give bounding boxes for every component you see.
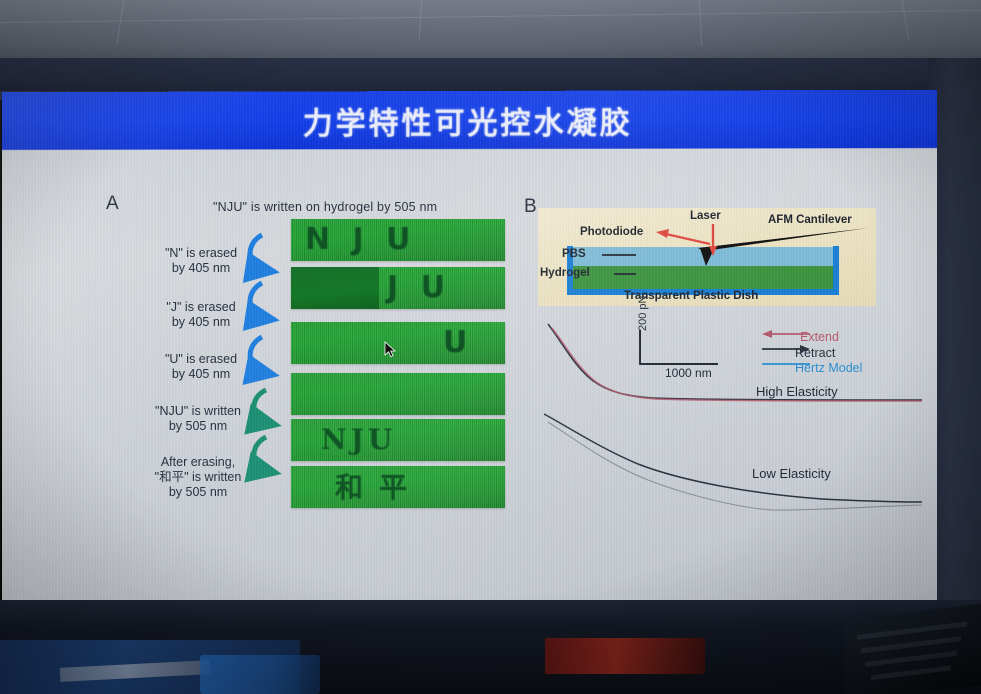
scale-bar-x-label: 1000 nm [665, 366, 712, 380]
hydrogel-layer [573, 266, 833, 289]
mouse-cursor [384, 341, 398, 359]
arrow-405-1 [250, 235, 270, 271]
desk-object-blue-marker [200, 655, 320, 694]
hydrogel-strip-text: U [443, 325, 473, 360]
photo-of-projected-slide: 力学特性可光控水凝胶 A B "NJU" is written on hydro… [0, 0, 981, 694]
hydrogel-strip-text: J U [387, 270, 451, 305]
legend-extend-arrowhead [762, 330, 772, 338]
hydrogel-strip-text: NJU [321, 423, 396, 456]
force-curve-chart [522, 318, 932, 518]
hydrogel-strip: J U [291, 267, 505, 309]
panel-label-b: B [524, 196, 537, 218]
hydrogel-strip-text: 和平 [335, 466, 423, 506]
hydrogel-strip: NJU [291, 419, 505, 461]
hydrogel-erased-region [291, 267, 379, 309]
ceiling-tile-line [0, 10, 981, 23]
process-arrows [240, 215, 306, 515]
curve-high-retract [548, 324, 922, 400]
label-pbs: PBS [562, 248, 586, 260]
hydrogel-strip: 和平 [291, 466, 505, 508]
legend-hertz-label: Hertz Model [795, 361, 862, 375]
keyboard-row [865, 651, 957, 667]
ceiling-tile-line [902, 0, 909, 40]
scale-bar [640, 330, 718, 364]
hydrogel-strip: U [291, 322, 505, 364]
ceiling-background [0, 0, 981, 66]
legend-extend-label: Extend [800, 330, 839, 344]
arrow-505-1 [254, 390, 272, 424]
label-afm-cantilever: AFM Cantilever [768, 214, 852, 226]
hydrogel-strip-text: N J U [305, 222, 417, 257]
hydrogel-strip [291, 373, 505, 415]
keyboard-row [861, 636, 961, 653]
legend-retract-label: Retract [795, 346, 835, 360]
keyboard[interactable] [845, 604, 981, 694]
desk-object-red [545, 638, 705, 674]
keyboard-row [871, 665, 951, 680]
ceiling-tile-line [419, 0, 423, 40]
ceiling-tile-line [699, 0, 702, 46]
arrow-405-3 [250, 337, 270, 374]
ceiling-tile-line [117, 0, 125, 44]
arrow-405-2 [250, 283, 270, 319]
hydrogel-strip: N J U [291, 219, 505, 261]
photodiode-arrowhead [656, 229, 669, 238]
afm-schematic: Laser AFM Cantilever Photodiode PBS Hydr… [538, 208, 876, 306]
curve-low-retract [544, 414, 922, 502]
annotation-high-elasticity: High Elasticity [756, 384, 838, 399]
annotation-low-elasticity: Low Elasticity [752, 466, 831, 481]
panel-label-a: A [106, 193, 119, 215]
label-hydrogel: Hydrogel [540, 267, 590, 279]
force-curve-svg [522, 318, 932, 518]
label-photodiode: Photodiode [580, 226, 643, 238]
panel-a-caption: "NJU" is written on hydrogel by 505 nm [213, 200, 437, 214]
scale-bar-y-label: 200 pN [637, 296, 649, 331]
reflected-beam [666, 234, 710, 244]
arrow-505-2 [254, 437, 272, 472]
label-laser: Laser [690, 210, 721, 222]
slide-title: 力学特性可光控水凝胶 [303, 98, 633, 143]
curve-high-extend [552, 328, 922, 401]
curve-low-extend [548, 422, 922, 510]
slide-title-bar: 力学特性可光控水凝胶 [2, 90, 937, 150]
